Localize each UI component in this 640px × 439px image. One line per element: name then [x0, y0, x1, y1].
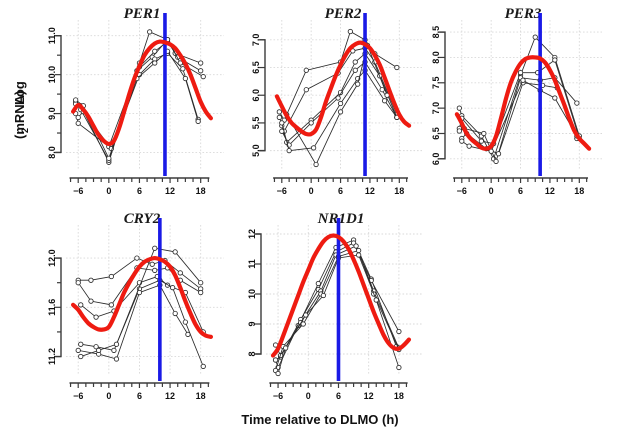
data-point [150, 262, 154, 266]
y-axis-tick-label: 6.0 [431, 153, 441, 166]
data-point [198, 290, 202, 294]
x-axis-tick-label: −6 [73, 186, 83, 196]
panel-title: PER2 [325, 6, 362, 22]
data-point [173, 311, 177, 315]
x-axis-tick-label: 6 [336, 391, 341, 401]
data-point [553, 58, 557, 62]
data-point [521, 78, 525, 82]
data-point [356, 248, 360, 252]
x-axis-tick-label: 18 [196, 391, 206, 401]
data-point [287, 148, 291, 152]
data-point [198, 61, 202, 65]
data-point [89, 299, 93, 303]
y-axis-tick-label: 8.0 [47, 146, 57, 159]
panel-title: PER1 [124, 6, 161, 22]
x-axis-tick-label: 12 [165, 391, 175, 401]
data-point [338, 110, 342, 114]
data-point [348, 29, 352, 33]
data-point [201, 364, 205, 368]
data-point [518, 70, 522, 74]
x-axis-tick-label: −6 [277, 186, 287, 196]
data-point [457, 129, 461, 133]
data-point [575, 101, 579, 105]
data-point [338, 101, 342, 105]
x-axis-tick-label: 12 [545, 186, 555, 196]
data-point [395, 65, 399, 69]
x-axis-tick-label: 6 [338, 186, 343, 196]
data-point [457, 106, 461, 110]
data-point [380, 87, 384, 91]
data-point [109, 274, 113, 278]
y-axis-tick-label: 5.0 [251, 144, 261, 157]
y-axis-tick-label: 11.6 [47, 299, 57, 316]
x-axis-title: Time relative to DLMO (h) [241, 412, 398, 427]
data-point [533, 35, 537, 39]
data-point [273, 358, 277, 362]
y-axis-tick-label: 12 [247, 229, 257, 239]
data-point [107, 156, 111, 160]
y-axis-tick-label: 8.0 [431, 51, 441, 64]
data-point [356, 253, 360, 257]
data-point [304, 87, 308, 91]
data-point [397, 329, 401, 333]
data-point [178, 271, 182, 275]
y-axis-tick-label: 6.0 [251, 89, 261, 102]
data-point [276, 371, 280, 375]
x-axis-tick-label: 12 [364, 391, 374, 401]
x-axis-tick-label: 0 [306, 391, 311, 401]
y-axis-tick-label: 8.5 [431, 26, 441, 39]
x-axis-tick-label: 0 [106, 391, 111, 401]
panel-title: CRY2 [124, 211, 161, 227]
data-point [496, 152, 500, 156]
data-point [494, 159, 498, 163]
data-point [353, 60, 357, 64]
y-axis-title-rest: (mRNA) [12, 91, 27, 139]
data-point [94, 315, 98, 319]
y-axis-tick-label: 7.0 [251, 34, 261, 47]
data-point [153, 268, 157, 272]
data-point [321, 293, 325, 297]
data-point [304, 68, 308, 72]
data-point [397, 365, 401, 369]
x-axis-tick-label: 12 [165, 186, 175, 196]
data-point [277, 110, 281, 114]
y-axis-tick-label: 9 [247, 321, 257, 326]
data-point [173, 250, 177, 254]
y-axis-tick-label: 7.0 [431, 102, 441, 115]
data-point [109, 303, 113, 307]
data-point [460, 139, 464, 143]
x-axis-tick-label: 12 [365, 186, 375, 196]
x-axis-tick-label: 0 [309, 186, 314, 196]
x-axis-tick-label: −6 [457, 186, 467, 196]
data-point [198, 280, 202, 284]
data-point [79, 342, 83, 346]
data-point [76, 280, 80, 284]
x-axis-tick-label: 6 [518, 186, 523, 196]
y-axis-tick-label: 11 [247, 259, 257, 269]
data-point [79, 303, 83, 307]
x-axis-tick-label: 18 [394, 186, 404, 196]
y-axis-tick-label: 9.0 [47, 107, 57, 120]
x-axis-tick-label: −6 [73, 391, 83, 401]
x-axis-tick-label: 6 [137, 391, 142, 401]
data-point [482, 131, 486, 135]
data-point [280, 121, 284, 125]
data-point [382, 99, 386, 103]
data-point [277, 115, 281, 119]
panel-title: NR1D1 [317, 211, 365, 227]
data-point [79, 354, 83, 358]
data-point [201, 74, 205, 78]
y-axis-tick-label: 6.5 [431, 127, 441, 140]
y-axis-tick-label: 5.5 [251, 117, 261, 130]
y-axis-tick-label: 6.5 [251, 61, 261, 74]
data-point [76, 121, 80, 125]
data-point [553, 96, 557, 100]
data-point [76, 115, 80, 119]
x-axis-tick-label: −6 [273, 391, 283, 401]
data-point [153, 61, 157, 65]
data-point [314, 162, 318, 166]
data-point [112, 348, 116, 352]
y-axis-tick-label: 10.0 [47, 66, 57, 84]
data-point [186, 332, 190, 336]
data-point [355, 82, 359, 86]
data-point [89, 278, 93, 282]
panel-title: PER3 [505, 6, 542, 22]
data-point [309, 121, 313, 125]
data-point [183, 320, 187, 324]
data-point [183, 76, 187, 80]
data-point [354, 244, 358, 248]
x-axis-tick-label: 0 [489, 186, 494, 196]
y-axis-tick-label: 11.2 [47, 348, 57, 365]
data-point [96, 348, 100, 352]
data-point [181, 67, 185, 71]
data-point [76, 348, 80, 352]
data-point [304, 313, 308, 317]
x-axis-tick-label: 18 [574, 186, 584, 196]
y-axis-tick-label: 10 [247, 289, 257, 299]
data-point [467, 144, 471, 148]
data-point [170, 285, 174, 289]
data-point [336, 96, 340, 100]
y-axis-tick-label: 8 [247, 351, 257, 356]
x-axis-tick-label: 18 [394, 391, 404, 401]
data-point [283, 346, 287, 350]
data-point [196, 119, 200, 123]
data-point [198, 69, 202, 73]
x-axis-tick-label: 0 [106, 186, 111, 196]
data-point [114, 357, 118, 361]
data-point [114, 342, 118, 346]
data-point [135, 256, 139, 260]
data-point [73, 98, 77, 102]
data-point [479, 139, 483, 143]
data-point [147, 30, 151, 34]
x-axis-tick-label: 18 [196, 186, 206, 196]
data-point [316, 281, 320, 285]
y-axis-tick-label: 11.0 [47, 27, 57, 44]
data-point [374, 298, 378, 302]
data-point [153, 246, 157, 250]
data-point [311, 146, 315, 150]
gene-expression-figure: Log 2 (mRNA) Time relative to DLMO (h) P… [0, 0, 640, 439]
y-axis-tick-label: 7.5 [431, 77, 441, 90]
y-axis-tick-label: 12.0 [47, 249, 57, 267]
x-axis-tick-label: 6 [137, 186, 142, 196]
data-point [353, 68, 357, 72]
